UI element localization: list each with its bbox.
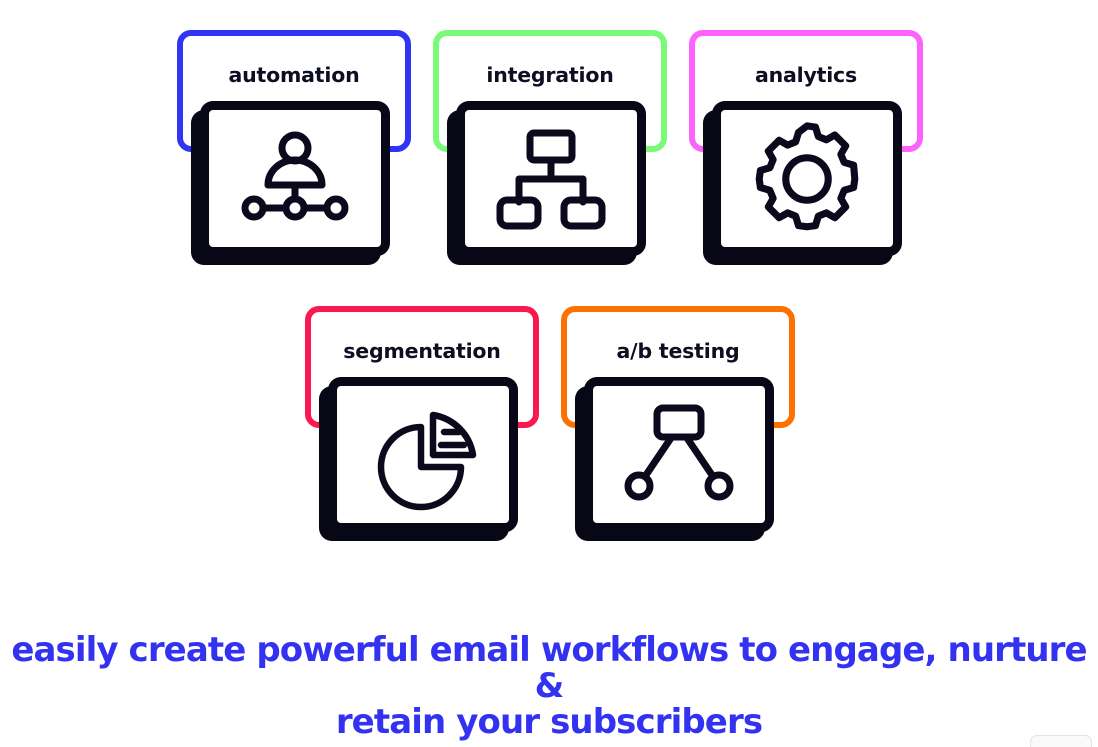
feature-label-integration: integration	[439, 63, 661, 87]
feature-icon-tile-automation[interactable]	[200, 101, 390, 256]
headline-line-2: retain your subscribers	[336, 702, 762, 742]
headline-line-1: easily create powerful email workflows t…	[11, 630, 1086, 706]
feature-icon-tile-analytics[interactable]	[712, 101, 902, 256]
feature-label-segmentation: segmentation	[311, 339, 533, 363]
feature-label-automation: automation	[183, 63, 405, 87]
corner-widget[interactable]	[1030, 735, 1092, 747]
feature-label-ab-testing: a/b testing	[567, 339, 789, 363]
feature-icon-tile-ab-testing[interactable]	[584, 377, 774, 532]
page-headline: easily create powerful email workflows t…	[0, 632, 1098, 740]
feature-label-analytics: analytics	[695, 63, 917, 87]
feature-icon-tile-integration[interactable]	[456, 101, 646, 256]
feature-showcase-page: automation integration	[0, 0, 1098, 747]
feature-icon-tile-segmentation[interactable]	[328, 377, 518, 532]
